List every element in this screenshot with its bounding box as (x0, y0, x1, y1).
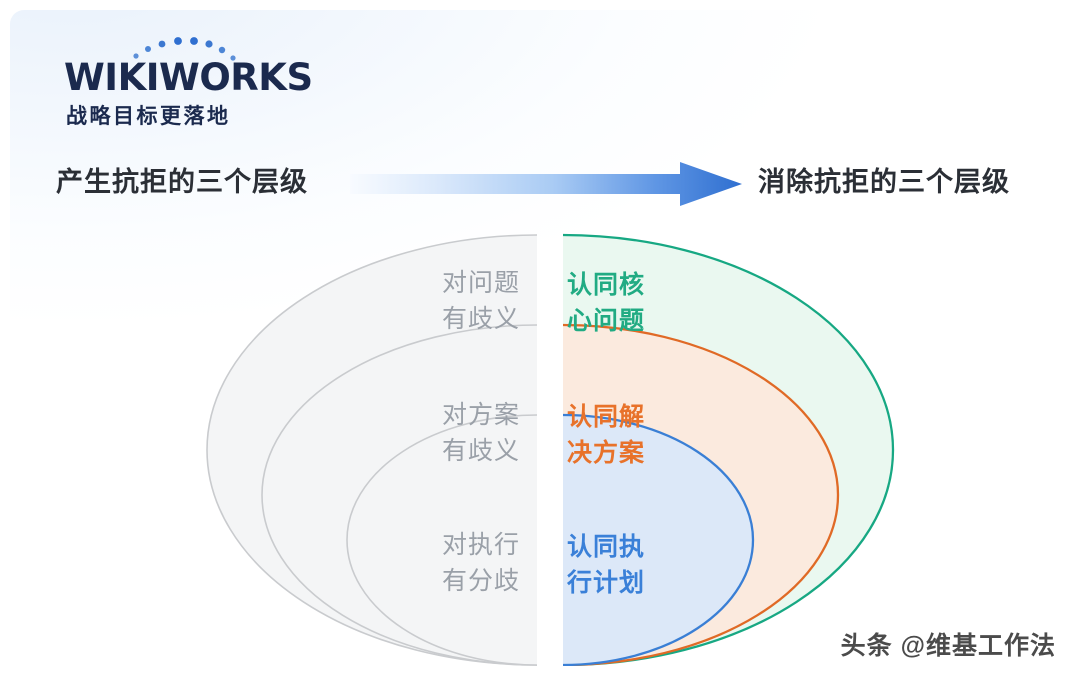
right-arrow-icon (350, 162, 742, 206)
brand-wordmark: WIKIWORKS (64, 56, 313, 99)
left-section-title: 产生抗拒的三个层级 (56, 160, 308, 199)
slide-canvas: WIKIWORKS 战略目标更落地 产生抗拒的三个层级 消除抗拒的三个层级 (10, 10, 1070, 676)
brand-logo: WIKIWORKS 战略目标更落地 (38, 30, 298, 122)
brand-tagline: 战略目标更落地 (66, 100, 231, 130)
watermark-text: 头条 @维基工作法 (841, 626, 1056, 662)
right-section-title: 消除抗拒的三个层级 (758, 160, 1010, 199)
nested-ellipses-diagram (10, 210, 1070, 666)
